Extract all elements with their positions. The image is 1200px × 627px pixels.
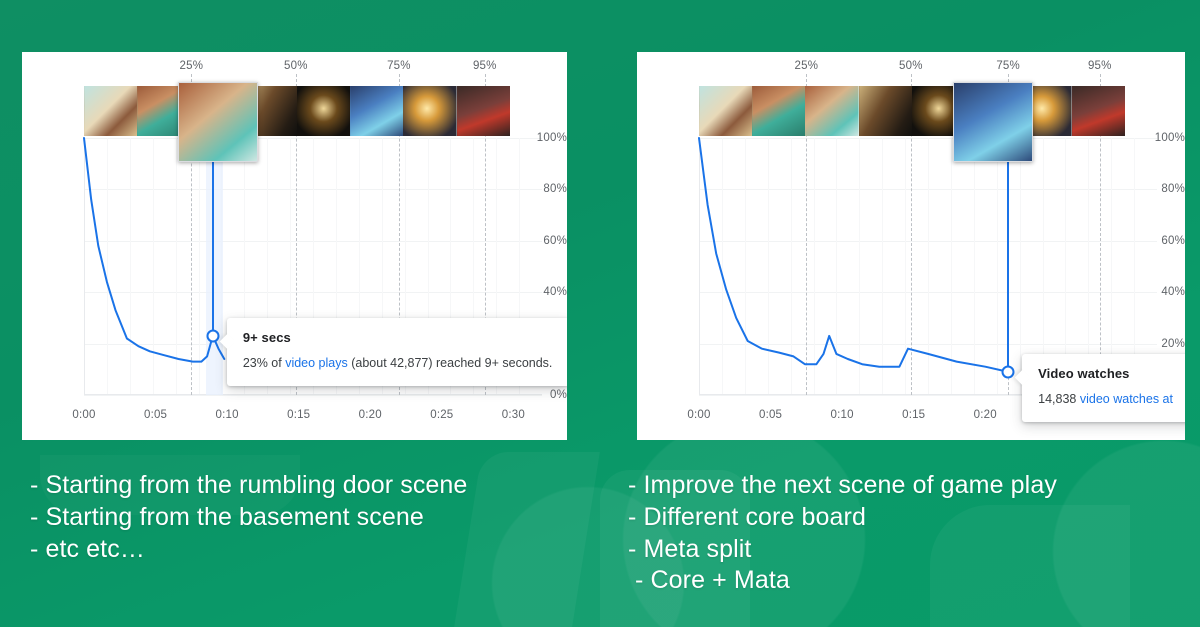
chart-tooltip: Video watches14,838 video watches at [1022,354,1185,422]
note-line: - Core + Mata [628,565,1057,597]
tooltip-link[interactable]: video plays [285,356,348,370]
note-line: - Starting from the basement scene [30,502,467,534]
tooltip-text-suffix: (about 42,877) reached 9+ seconds. [348,356,553,370]
right-retention-chart[interactable]: 0%20%40%60%80%100%0:000:050:100:150:200:… [637,52,1185,440]
thumbnail-hover-preview[interactable] [178,82,258,162]
tooltip-title: 9+ secs [243,330,553,345]
tooltip-text-prefix: 23% of [243,356,285,370]
tooltip-title: Video watches [1038,366,1185,381]
tooltip-text-prefix: 14,838 [1038,392,1080,406]
selected-point-marker[interactable] [1002,365,1015,378]
selected-point-line [1007,160,1009,372]
note-line: - etc etc… [30,534,467,566]
note-line: - Different core board [628,502,1057,534]
note-line: - Starting from the rumbling door scene [30,470,467,502]
background-shape-1 [454,452,600,627]
notes-right: - Improve the next scene of game play- D… [628,470,1057,597]
selected-point-line [212,160,214,336]
right-chart-panel: 0%20%40%60%80%100%0:000:050:100:150:200:… [637,52,1185,440]
tooltip-body: 23% of video plays (about 42,877) reache… [243,354,553,372]
thumbnail-hover-preview[interactable] [953,82,1033,162]
tooltip-body: 14,838 video watches at [1038,390,1185,408]
tooltip-link[interactable]: video watches at [1080,392,1173,406]
chart-tooltip: 9+ secs23% of video plays (about 42,877)… [227,318,567,386]
left-retention-chart[interactable]: 0%20%40%60%80%100%0:000:050:100:150:200:… [22,52,567,440]
notes-left: - Starting from the rumbling door scene-… [30,470,467,565]
selected-point-marker[interactable] [206,329,219,342]
note-line: - Improve the next scene of game play [628,470,1057,502]
note-line: - Meta split [628,534,1057,566]
left-chart-panel: 0%20%40%60%80%100%0:000:050:100:150:200:… [22,52,567,440]
